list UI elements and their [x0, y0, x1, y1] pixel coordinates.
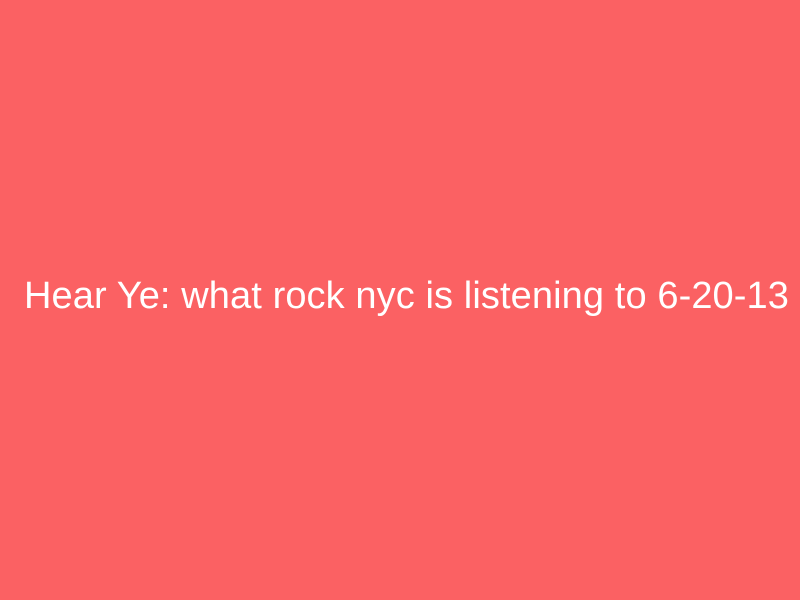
placeholder-card: Hear Ye: what rock nyc is listening to 6… — [0, 0, 800, 600]
page-title: Hear Ye: what rock nyc is listening to 6… — [0, 275, 800, 319]
